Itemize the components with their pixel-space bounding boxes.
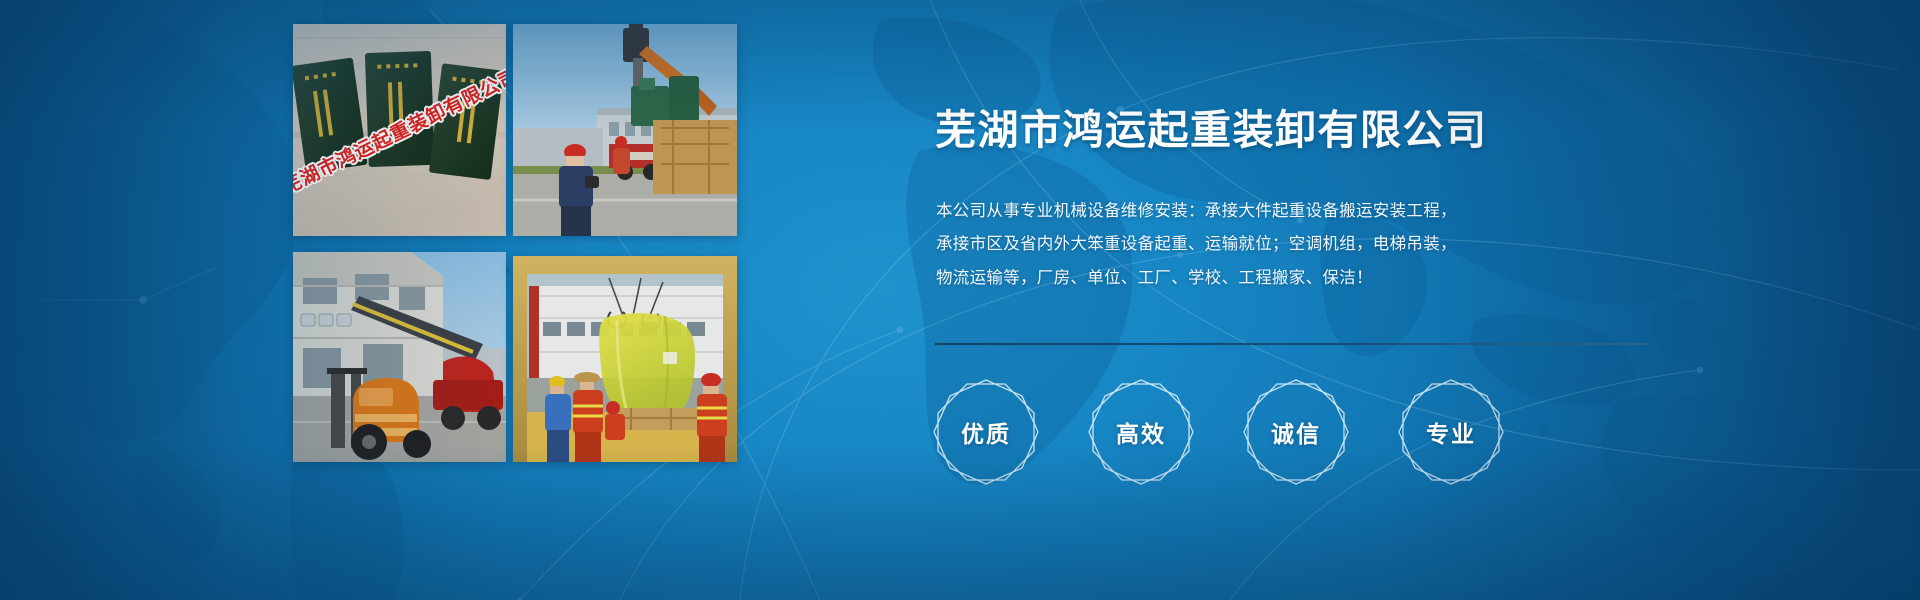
- badge-label: 高效: [1116, 415, 1166, 449]
- badge-label: 优质: [961, 415, 1011, 449]
- badge-label: 专业: [1426, 415, 1476, 449]
- company-banner: 芜湖市鸿运起重装卸有限公司: [0, 0, 1920, 600]
- badge-label: 诚信: [1271, 415, 1321, 449]
- background-vignette: [0, 0, 1920, 600]
